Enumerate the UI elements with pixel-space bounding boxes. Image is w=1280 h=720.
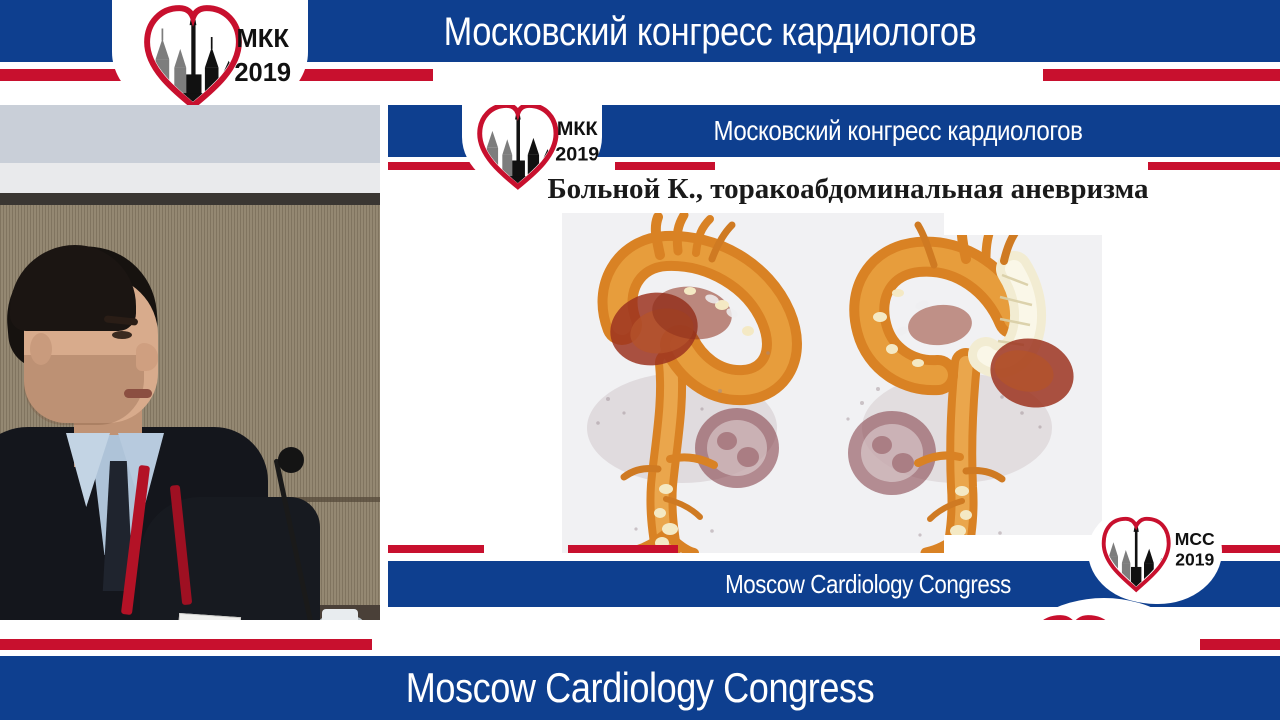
slide-red-accent-middle [615, 162, 715, 170]
logo-year-text: 2019 [1175, 550, 1214, 570]
bottom-white-strip [0, 620, 1280, 656]
slide-header-title-ru: Московский конгресс кардиологов [631, 113, 1164, 149]
broadcast-frame: Московский конгресс кардиологов [0, 0, 1280, 720]
mcc-2019-logo-upper: MCC 2019 [1092, 500, 1222, 604]
logo-abbr-text: МКК [557, 118, 599, 140]
microphone-icon [278, 447, 304, 473]
logo-year-text: 2019 [555, 143, 599, 165]
heart-skyline-icon: MCC 2019 [1092, 500, 1222, 604]
logo-year-text: 2019 [234, 59, 291, 87]
top-red-accent-right [1043, 69, 1280, 81]
presenter-nose [136, 343, 158, 371]
speaker-video-feed[interactable] [0, 105, 380, 620]
bottom-red-accent-right [1200, 639, 1280, 650]
top-red-accent-left [0, 69, 122, 81]
bottom-red-accent-left [0, 639, 372, 650]
slide-footer-red-left [388, 545, 484, 553]
presenter-eye [112, 331, 132, 339]
bottle-cap [322, 609, 358, 620]
presenter-ear [30, 333, 52, 365]
figure-white-notch-top [944, 213, 1102, 235]
logo-abbr-text: MCC [1175, 529, 1215, 549]
figure-white-notch-bottom [944, 535, 1102, 553]
presenter-mouth [124, 389, 152, 398]
aorta-3d-reconstruction [562, 213, 1102, 553]
congress-title-en: Moscow Cardiology Congress [348, 662, 933, 714]
slide-red-accent-right [1148, 162, 1280, 170]
slide-footer-red-middle [568, 545, 678, 553]
top-red-accent-middle [290, 69, 433, 81]
ct-angiography-figure [562, 213, 1102, 553]
logo-abbr-text: МКК [237, 25, 290, 53]
slide-title: Больной К., торакоабдоминальная аневризм… [448, 171, 1248, 207]
mkk-2019-logo: МКК 2019 [112, 0, 308, 122]
slide-footer-title-en: Moscow Cardiology Congress [610, 567, 1126, 601]
presenter-arm [140, 497, 320, 620]
heart-skyline-icon: МКК 2019 [112, 0, 308, 122]
congress-title-ru: Московский конгресс кардиологов [383, 8, 1037, 56]
